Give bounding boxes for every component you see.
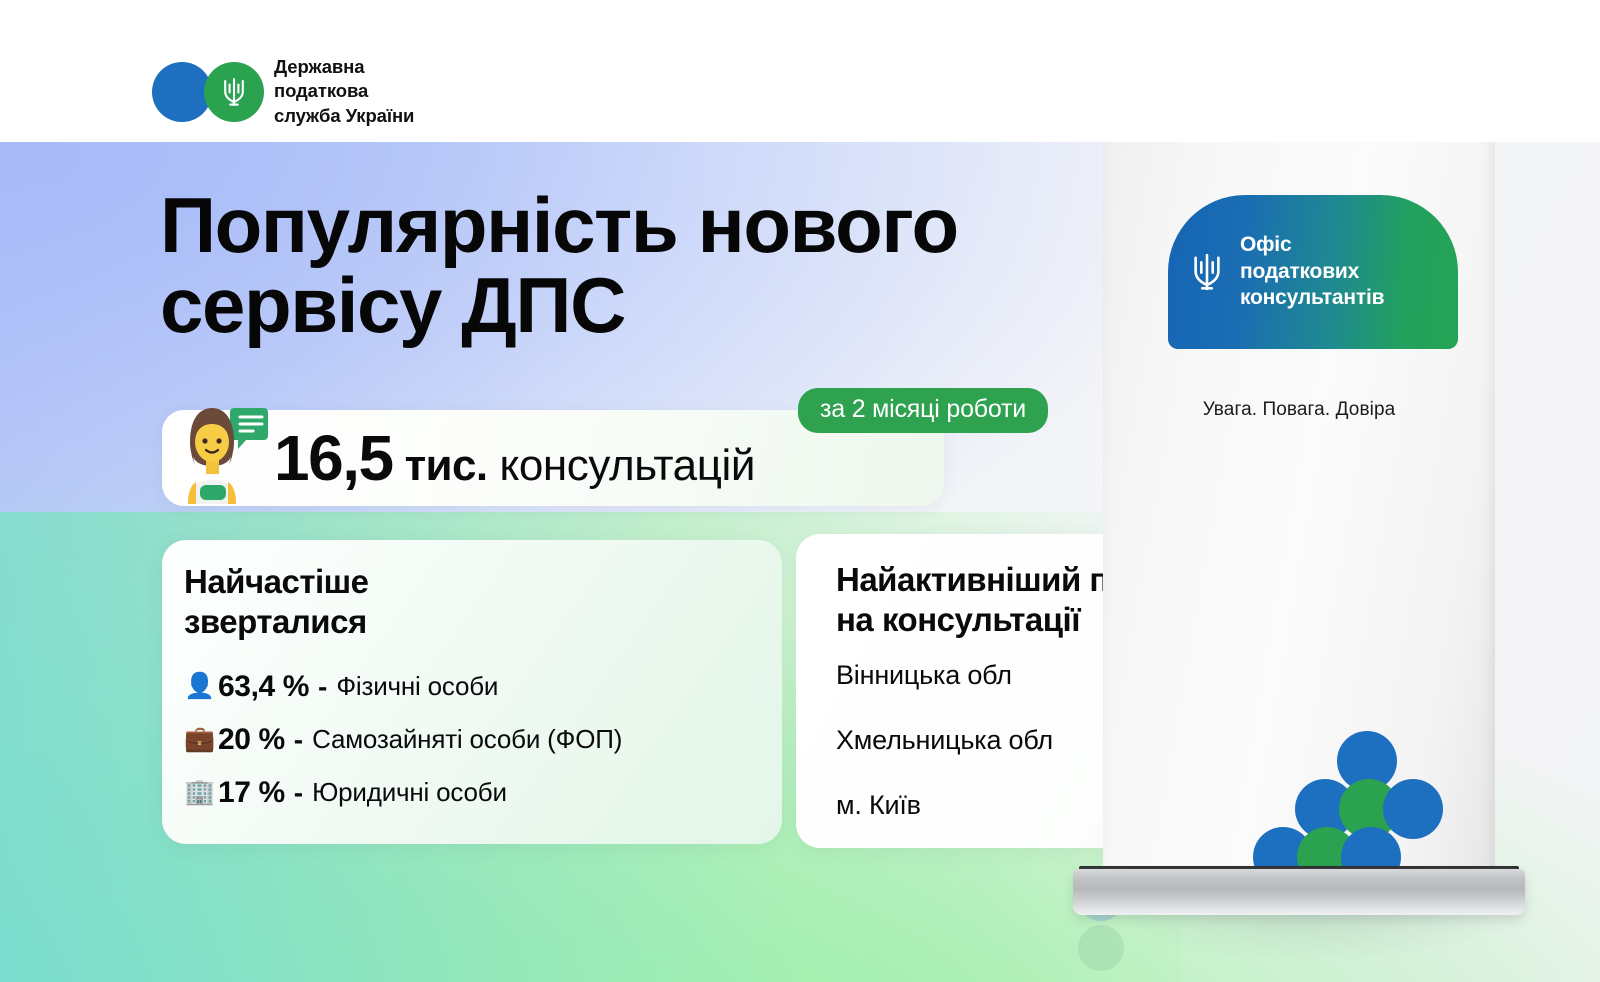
header-bar: Державна податкова служба України — [0, 0, 1600, 142]
list-item: Хмельницька обл — [836, 727, 1053, 754]
list-item: 🏢 17 % - Юридичні особи — [184, 766, 764, 819]
infographic-canvas: Державна податкова служба України Популя… — [0, 0, 1600, 982]
row-dash: - — [318, 671, 327, 703]
applicant-rows: 👤 63,4 % - Фізичні особи 💼 20 % - Самоза… — [184, 660, 764, 819]
org-name: Державна податкова служба України — [274, 55, 414, 128]
logo-green-circle-icon — [204, 62, 264, 122]
row-label: Юридичні особи — [312, 777, 507, 808]
consultations-stat-card: 16,5 тис. консультацій за 2 місяці робот… — [162, 410, 944, 506]
list-item: Вінницька обл — [836, 662, 1053, 689]
list-item: 👤 63,4 % - Фізичні особи — [184, 660, 764, 713]
logo-marks — [152, 58, 268, 126]
ukraine-trident-icon — [221, 75, 247, 109]
consultations-value: 16,5 тис. консультацій — [274, 421, 755, 495]
banner-dot-blue-icon — [1383, 779, 1443, 839]
bust-silhouette-icon: 👤 — [184, 674, 218, 699]
rollup-banner: Офіс податкових консультантів Увага. Пов… — [1103, 66, 1498, 896]
banner-base-stand — [1073, 869, 1525, 915]
office-building-icon: 🏢 — [184, 780, 218, 805]
stat-word: консультацій — [499, 441, 755, 491]
row-dash: - — [294, 777, 303, 809]
list-item: 💼 20 % - Самозайняті особи (ФОП) — [184, 713, 764, 766]
stat-number: 16,5 — [274, 421, 393, 495]
row-percent: 63,4 % — [218, 670, 309, 704]
period-badge: за 2 місяці роботи — [798, 388, 1048, 433]
logo-blue-circle-icon — [152, 62, 212, 122]
banner-slogan: Увага. Повага. Довіра — [1103, 399, 1495, 421]
region-list: Вінницька обл Хмельницька обл м. Київ — [836, 662, 1053, 819]
ukraine-trident-icon — [1190, 250, 1224, 294]
tax-consultants-office-logo: Офіс податкових консультантів — [1168, 195, 1458, 349]
list-item: м. Київ — [836, 792, 1053, 819]
woman-with-speech-bubble-emoji — [178, 392, 270, 504]
banner-face: Офіс податкових консультантів Увага. Пов… — [1103, 79, 1495, 879]
most-frequent-applicants-card: Найчастіше зверталися 👤 63,4 % - Фізичні… — [162, 540, 782, 844]
page-title: Популярність нового сервісу ДПС — [160, 185, 958, 346]
briefcase-icon: 💼 — [184, 727, 218, 752]
row-percent: 17 % — [218, 776, 285, 810]
stat-unit: тис. — [405, 441, 488, 491]
ghost-dot-green-icon — [1078, 925, 1124, 971]
row-dash: - — [294, 724, 303, 756]
row-percent: 20 % — [218, 723, 285, 757]
card-left-heading: Найчастіше зверталися — [184, 562, 369, 643]
row-label: Самозайняті особи (ФОП) — [312, 724, 622, 755]
row-label: Фізичні особи — [336, 671, 498, 702]
banner-logo-text: Офіс податкових консультантів — [1240, 232, 1384, 313]
dps-logo: Державна податкова служба України — [152, 55, 414, 128]
